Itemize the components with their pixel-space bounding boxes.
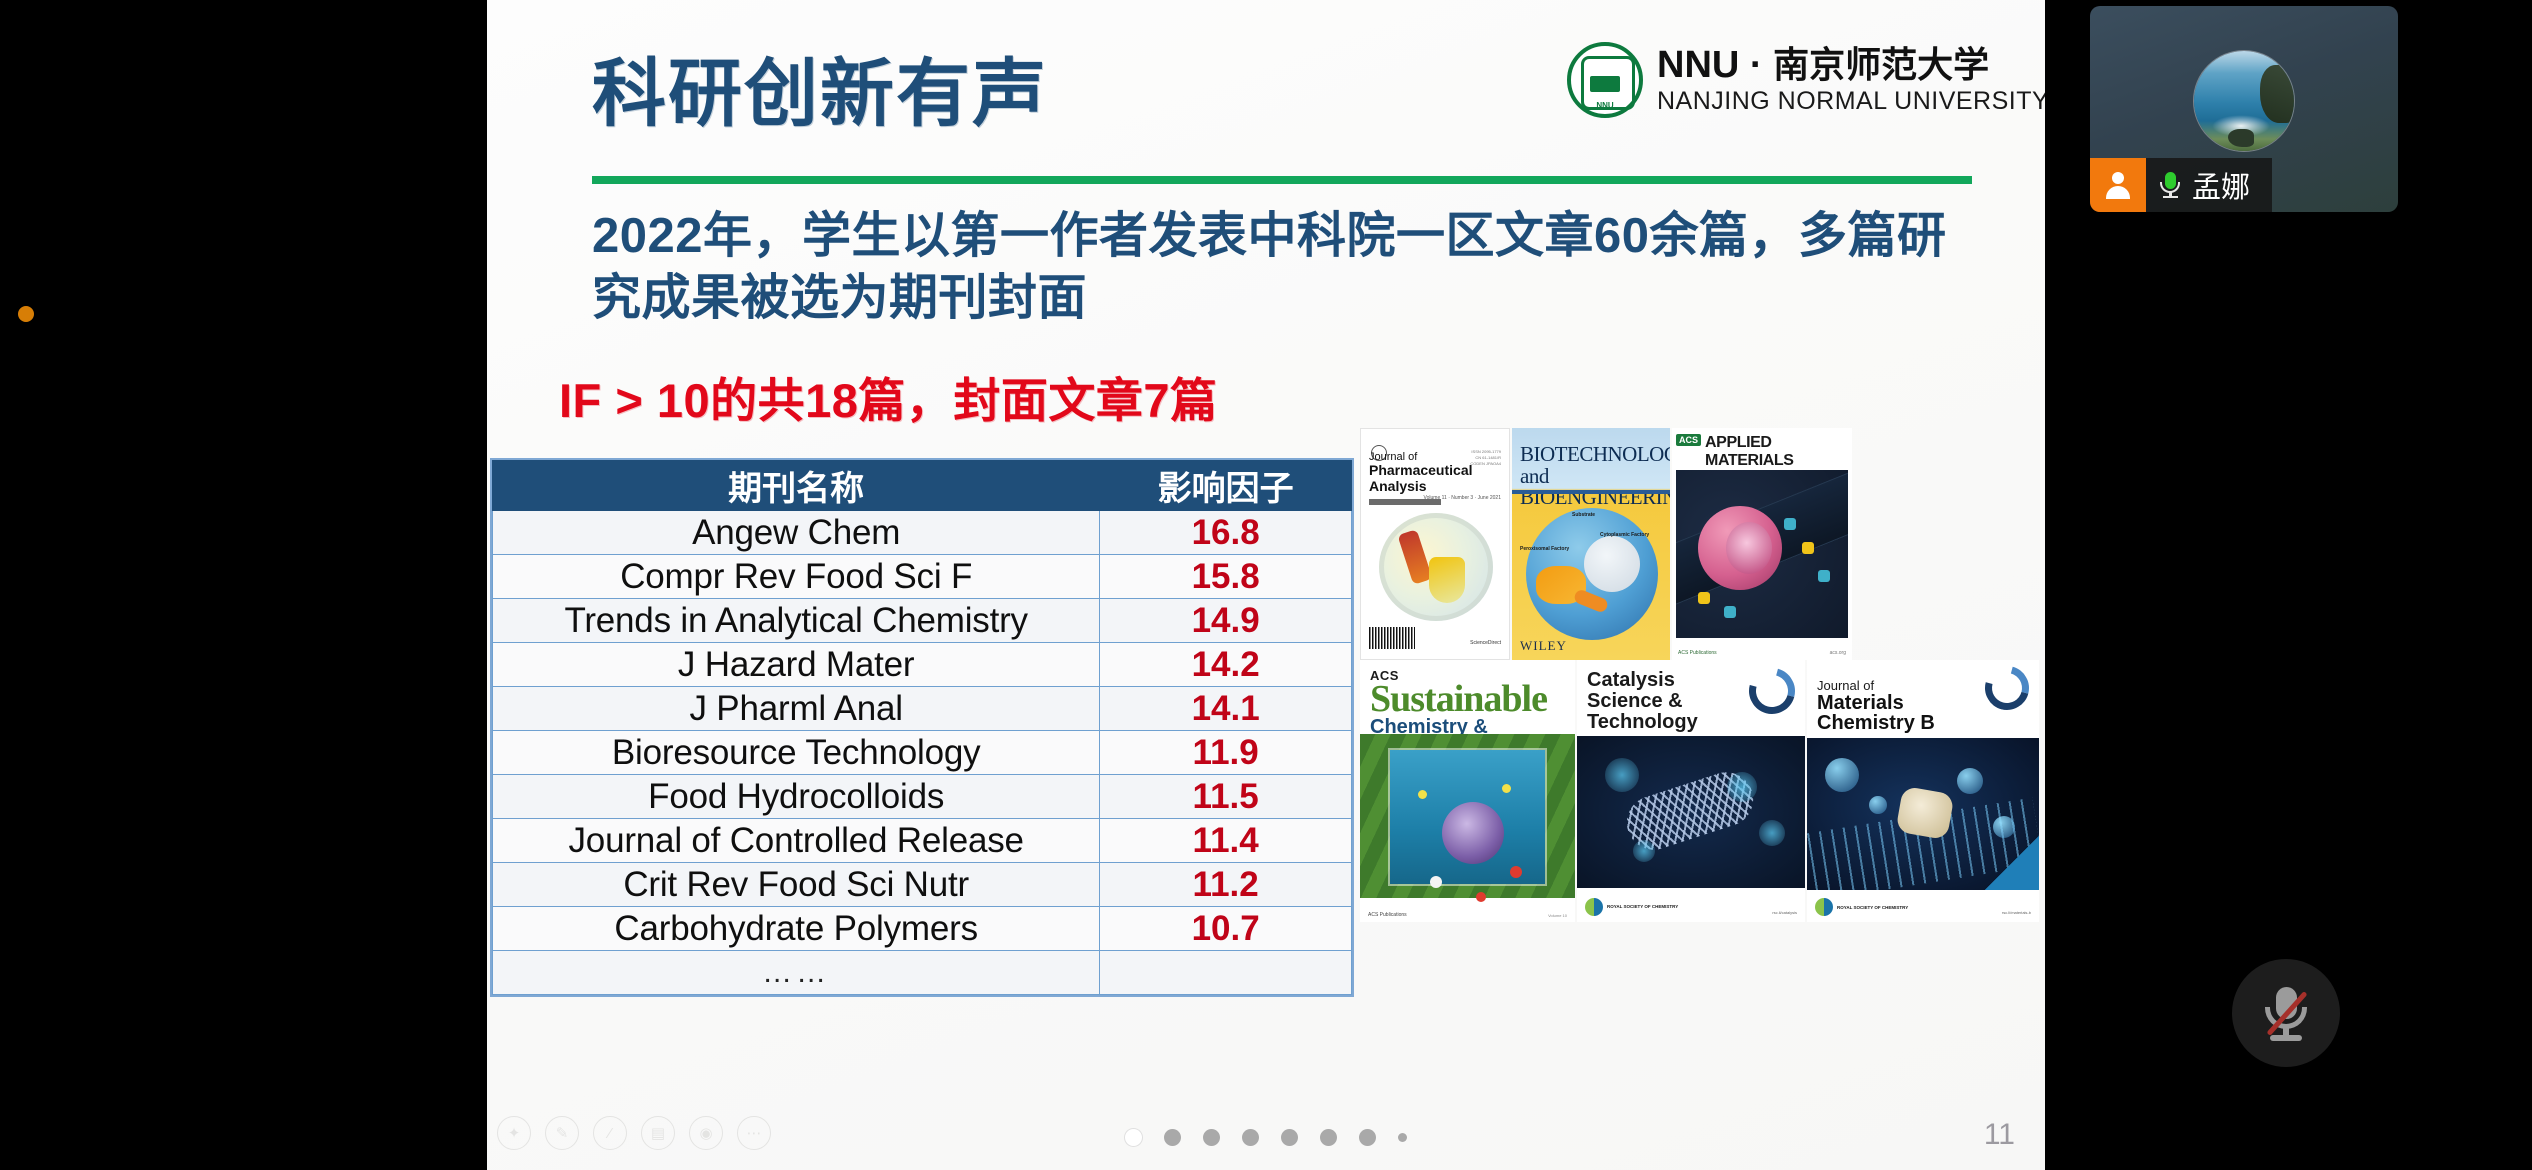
cover-biotechnology-and-bioengineering: BIOTECHNOLOGY and BIOENGINEERING Substra…: [1512, 428, 1670, 660]
participant-name-bar: 孟娜: [2090, 158, 2272, 212]
cover-barcode: [1369, 627, 1415, 649]
cover-artwork-hex: [1802, 542, 1814, 554]
cover-footer: ScienceDirect: [1470, 640, 1501, 647]
table-row: ……: [493, 951, 1352, 995]
university-logo-text: NNU · 南京师范大学 NANJING NORMAL UNIVERSITY: [1657, 46, 2045, 114]
cover-artwork-atom: [1502, 784, 1511, 793]
participant-video-tile[interactable]: 孟娜: [2090, 6, 2398, 212]
cover-footer: ROYAL SOCIETY OF CHEMISTRY: [1585, 898, 1678, 916]
table-row: Bioresource Technology11.9: [493, 731, 1352, 775]
cover-artwork: [1526, 508, 1658, 640]
cover-artwork-vesicle: [1993, 816, 2015, 838]
table-row: Journal of Controlled Release11.4: [493, 819, 1352, 863]
cover-line2: Pharmaceutical Analysis: [1369, 463, 1501, 494]
slide-pagination[interactable]: [487, 1129, 2045, 1146]
participant-badge: [2090, 158, 2146, 212]
table-row: J Hazard Mater14.2: [493, 643, 1352, 687]
cover-footer-meta: rsc.li/catalysis: [1772, 910, 1797, 916]
cover-artwork-hex: [1818, 570, 1830, 582]
cover-artwork-vesicle: [1957, 768, 1983, 794]
cover-line1: Journal of: [1817, 678, 1985, 693]
avatar-detail-rock: [2228, 129, 2254, 147]
avatar: [2194, 51, 2294, 151]
cover-line2: Materials Chemistry B: [1817, 693, 1985, 734]
recording-indicator-dot: [18, 306, 34, 322]
cover-artwork-atom: [1430, 876, 1442, 888]
microphone-icon: [2160, 172, 2180, 198]
cover-artwork-core: [1726, 522, 1772, 574]
table-row: Compr Rev Food Sci F15.8: [493, 555, 1352, 599]
logo-separator: ·: [1750, 44, 1763, 86]
cover-footer: WILEY: [1520, 638, 1567, 654]
cover-artwork-protein: [1895, 786, 1954, 840]
cover-volume: Volume 11 · Number 3 · June 2021: [1424, 495, 1501, 501]
cover-artwork-atom: [1476, 892, 1486, 902]
cover-footer-meta: rsc.li/materials-b: [2002, 910, 2031, 916]
cover-artwork-glow: [1633, 840, 1655, 862]
cover-catalysis-science-and-technology: Catalysis Science & Technology ROYAL SOC…: [1577, 660, 1805, 922]
cover-artwork-glow: [1759, 820, 1785, 846]
cell-impact-factor: 10.7: [1100, 907, 1352, 951]
university-seal-icon: NNU: [1567, 42, 1643, 118]
rsc-logo-icon: [1585, 898, 1603, 916]
highlight-text: IF > 10的共18篇，封面文章7篇: [559, 372, 1218, 430]
cover-artwork: [1379, 513, 1493, 621]
subheading-text: 2022年，学生以第一作者发表中科院一区文章60余篇，多篇研究成果被选为期刊封面: [592, 205, 1992, 329]
cell-journal-name: ……: [493, 951, 1100, 995]
pagination-dot[interactable]: [1164, 1129, 1181, 1146]
cover-line2: Science & Technology: [1587, 690, 1698, 733]
cover-title-block: Catalysis Science & Technology: [1587, 670, 1753, 732]
cover-artwork-nucleus: [1584, 536, 1640, 592]
cell-journal-name: J Pharml Anal: [493, 687, 1100, 731]
table-row: Angew Chem16.8: [493, 511, 1352, 555]
university-name-en: NANJING NORMAL UNIVERSITY: [1657, 88, 2045, 114]
table-row: Crit Rev Food Sci Nutr11.2: [493, 863, 1352, 907]
pagination-dot[interactable]: [1125, 1129, 1142, 1146]
cell-journal-name: Bioresource Technology: [493, 731, 1100, 775]
cover-label-substrate: Substrate: [1572, 512, 1595, 518]
cover-label-cytoplasmic: Cytoplasmic Factory: [1600, 532, 1649, 538]
cover-artwork-hex: [1724, 606, 1736, 618]
cell-journal-name: Compr Rev Food Sci F: [493, 555, 1100, 599]
pagination-dot[interactable]: [1320, 1129, 1337, 1146]
cell-impact-factor: 11.4: [1100, 819, 1352, 863]
publisher-arc-icon: [1977, 660, 2037, 718]
cover-artwork: [1360, 734, 1575, 898]
cover-footer: ROYAL SOCIETY OF CHEMISTRY: [1815, 898, 1908, 916]
cell-journal-name: J Hazard Mater: [493, 643, 1100, 687]
cover-footer-volume: Volume 10: [1548, 913, 1567, 918]
cover-artwork-glow: [1605, 758, 1639, 792]
cover-corner-flag: [1985, 836, 2039, 890]
cell-impact-factor: [1100, 951, 1352, 995]
table-header-row: 期刊名称 影响因子: [493, 461, 1352, 511]
cover-footer: ACS Publications: [1368, 912, 1407, 918]
cover-line1: BIOTECHNOLOGY: [1520, 444, 1664, 465]
cover-artwork-water: [1390, 750, 1545, 884]
cover-artwork-molecule: [1442, 802, 1504, 864]
cell-journal-name: Trends in Analytical Chemistry: [493, 599, 1100, 643]
journal-covers-row-2: ACS Sustainable Chemistry & Engineering …: [1360, 660, 2040, 922]
cover-line1: APPLIED MATERIALS: [1705, 434, 1794, 469]
cover-artwork-arrow: [1573, 588, 1610, 614]
cell-impact-factor: 11.2: [1100, 863, 1352, 907]
pagination-dot[interactable]: [1281, 1129, 1298, 1146]
journal-impact-table: 期刊名称 影响因子 Angew Chem16.8Compr Rev Food S…: [492, 460, 1352, 995]
table-row: Carbohydrate Polymers10.7: [493, 907, 1352, 951]
cover-artwork-vesicle: [1869, 796, 1887, 814]
pagination-dot[interactable]: [1398, 1133, 1407, 1142]
cover-journal-of-pharmaceutical-analysis: ISSN 2095-1779CN 61-1481/RCODEN JPAOA4 J…: [1360, 428, 1510, 660]
cell-impact-factor: 14.1: [1100, 687, 1352, 731]
cover-footer-url: acs.org: [1830, 650, 1846, 656]
cell-impact-factor: 14.2: [1100, 643, 1352, 687]
rsc-logo-icon: [1815, 898, 1833, 916]
cover-artwork-hex: [1698, 592, 1710, 604]
column-header-impact-factor: 影响因子: [1100, 461, 1352, 511]
pagination-dot[interactable]: [1359, 1129, 1376, 1146]
university-name-line1: NNU · 南京师范大学: [1657, 46, 2045, 86]
cover-line2: and BIOENGINEERING: [1520, 466, 1664, 509]
page-title: 科研创新有声: [592, 52, 1048, 136]
cell-journal-name: Journal of Controlled Release: [493, 819, 1100, 863]
cover-rule: [1512, 490, 1670, 494]
pagination-dot[interactable]: [1203, 1129, 1220, 1146]
screen-root: 科研创新有声 NNU NNU · 南京师范大学 NANJING NORMAL U…: [0, 0, 2532, 1170]
cell-impact-factor: 14.9: [1100, 599, 1352, 643]
cover-acs-applied-materials-and-interfaces: ACS APPLIED MATERIALS & INTERFACES: [1672, 428, 1852, 660]
cover-line1: Catalysis: [1587, 669, 1675, 691]
page-number: 11: [1984, 1118, 2015, 1152]
cover-title-block: Journal of Pharmaceutical Analysis: [1369, 451, 1501, 494]
cell-journal-name: Angew Chem: [493, 511, 1100, 555]
university-logo: NNU NNU · 南京师范大学 NANJING NORMAL UNIVERSI…: [1567, 42, 2045, 118]
cover-artwork-hex: [1784, 518, 1796, 530]
cell-journal-name: Crit Rev Food Sci Nutr: [493, 863, 1100, 907]
cover-artwork-atom: [1418, 790, 1427, 799]
cover-acs-sustainable-chemistry-and-engineering: ACS Sustainable Chemistry & Engineering …: [1360, 660, 1575, 922]
cell-journal-name: Food Hydrocolloids: [493, 775, 1100, 819]
presentation-slide[interactable]: 科研创新有声 NNU NNU · 南京师范大学 NANJING NORMAL U…: [487, 0, 2045, 1170]
person-icon: [2105, 172, 2131, 198]
participant-name: 孟娜: [2192, 164, 2250, 206]
cover-artwork-vesicle: [1825, 758, 1859, 792]
university-abbr: NNU: [1657, 44, 1739, 86]
slide-canvas: 科研创新有声 NNU NNU · 南京师范大学 NANJING NORMAL U…: [487, 0, 2045, 1170]
cell-impact-factor: 15.8: [1100, 555, 1352, 599]
journal-covers-row-1: ISSN 2095-1779CN 61-1481/RCODEN JPAOA4 J…: [1360, 428, 2040, 660]
publisher-badge: ACS: [1676, 434, 1701, 446]
table-row: Food Hydrocolloids11.5: [493, 775, 1352, 819]
cell-journal-name: Carbohydrate Polymers: [493, 907, 1100, 951]
microphone-muted-icon: [2261, 985, 2311, 1041]
mute-toggle-button[interactable]: [2232, 959, 2340, 1067]
cover-artwork: [1577, 736, 1805, 888]
title-divider: [592, 176, 1972, 184]
table-body: Angew Chem16.8Compr Rev Food Sci F15.8Tr…: [493, 511, 1352, 995]
cover-artwork: [1807, 738, 2039, 890]
table-row: Trends in Analytical Chemistry14.9: [493, 599, 1352, 643]
cover-artwork-atom: [1510, 866, 1522, 878]
table-row: J Pharml Anal14.1: [493, 687, 1352, 731]
cover-footer-label: ROYAL SOCIETY OF CHEMISTRY: [1607, 904, 1678, 909]
participant-name-body: 孟娜: [2146, 158, 2272, 212]
cover-artwork: [1676, 470, 1848, 638]
university-name-cn: 南京师范大学: [1773, 44, 1989, 85]
pagination-dot[interactable]: [1242, 1129, 1259, 1146]
cover-line1: Sustainable: [1370, 683, 1567, 716]
column-header-journal: 期刊名称: [493, 461, 1100, 511]
cell-impact-factor: 11.5: [1100, 775, 1352, 819]
cover-artwork-glow: [1727, 772, 1757, 802]
cover-journal-of-materials-chemistry-b: Journal of Materials Chemistry B Materia…: [1807, 660, 2039, 922]
cover-footer: ACS Publications: [1678, 650, 1717, 656]
cover-footer-label: ROYAL SOCIETY OF CHEMISTRY: [1837, 905, 1908, 910]
cell-impact-factor: 11.9: [1100, 731, 1352, 775]
cell-impact-factor: 16.8: [1100, 511, 1352, 555]
seal-label: NNU: [1571, 101, 1639, 110]
cover-label-peroxisomal: Peroxisomal Factory: [1520, 546, 1569, 552]
cover-title-block: ACS APPLIED MATERIALS & INTERFACES: [1676, 434, 1848, 468]
cover-title-block: Journal of Materials Chemistry B Materia…: [1817, 678, 1985, 744]
